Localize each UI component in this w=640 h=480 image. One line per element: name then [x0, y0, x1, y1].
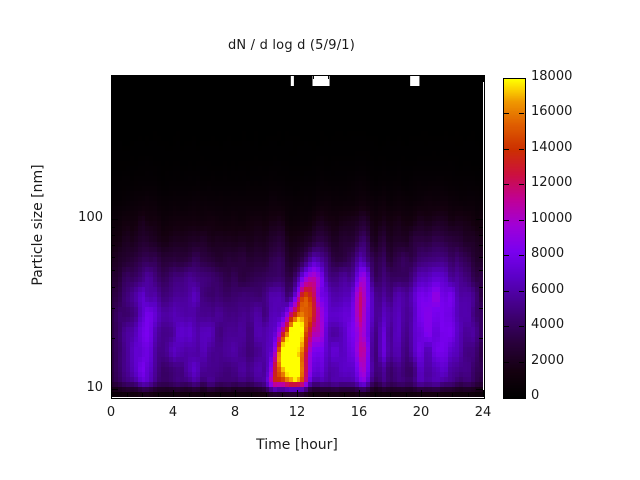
colorbar-tick — [519, 362, 524, 363]
colorbar-tick-label: 18000 — [531, 69, 572, 84]
x-tick-minor — [204, 393, 205, 397]
x-tick-minor-top — [158, 75, 159, 79]
x-tick-minor-top — [452, 75, 453, 79]
x-tick-minor-top — [142, 75, 143, 79]
y-tick-minor — [111, 338, 115, 339]
heatmap-image — [111, 75, 483, 397]
x-tick-major — [111, 390, 112, 397]
x-tick-major-top — [421, 75, 422, 82]
colorbar-tick — [504, 184, 509, 185]
y-tick-minor — [111, 235, 115, 236]
y-tick-minor — [111, 245, 115, 246]
colorbar-tick-label: 12000 — [531, 175, 572, 190]
x-tick-minor — [282, 393, 283, 397]
y-tick-minor — [111, 138, 115, 139]
colorbar-tick — [519, 113, 524, 114]
colorbar-tick — [504, 255, 509, 256]
y-tick-minor-right — [479, 86, 483, 87]
x-tick-major-top — [483, 75, 484, 82]
x-tick-minor — [266, 393, 267, 397]
y-tick-minor-right — [479, 227, 483, 228]
x-tick-minor-top — [328, 75, 329, 79]
y-tick-minor-right — [479, 138, 483, 139]
x-tick-label: 8 — [215, 405, 255, 420]
x-axis-title: Time [hour] — [111, 437, 483, 453]
colorbar-tick-label: 8000 — [531, 246, 564, 261]
y-tick-minor-right — [479, 168, 483, 169]
colorbar-tick — [504, 291, 509, 292]
x-tick-minor-top — [204, 75, 205, 79]
x-tick-label: 4 — [153, 405, 193, 420]
y-axis-title: Particle size [nm] — [30, 125, 46, 325]
colorbar-tick — [519, 220, 524, 221]
y-tick-minor-right — [479, 287, 483, 288]
y-tick-major-right — [476, 389, 483, 390]
x-tick-label: 24 — [463, 405, 503, 420]
y-tick-minor-right — [479, 245, 483, 246]
y-tick-minor-right — [479, 308, 483, 309]
x-tick-minor — [251, 393, 252, 397]
x-tick-minor-top — [468, 75, 469, 79]
y-tick-minor-right — [479, 100, 483, 101]
x-tick-major-top — [359, 75, 360, 82]
colorbar-tick — [519, 184, 524, 185]
colorbar-tick — [519, 255, 524, 256]
y-tick-label: 100 — [59, 210, 103, 225]
x-tick-major — [483, 390, 484, 397]
y-tick-minor-right — [479, 75, 483, 76]
figure-canvas: dN / d log d (5/9/1) 0481216202410100 Ti… — [0, 0, 640, 480]
x-tick-major — [359, 390, 360, 397]
y-tick-minor — [111, 270, 115, 271]
x-tick-minor — [127, 393, 128, 397]
x-tick-minor — [220, 393, 221, 397]
x-tick-minor — [142, 393, 143, 397]
heatmap-plot-area[interactable] — [111, 75, 483, 397]
x-tick-minor — [158, 393, 159, 397]
colorbar-tick — [504, 220, 509, 221]
x-tick-minor-top — [375, 75, 376, 79]
x-tick-minor-top — [406, 75, 407, 79]
colorbar-tick-label: 16000 — [531, 104, 572, 119]
colorbar-tick-label: 0 — [531, 388, 539, 403]
colorbar-tick-label: 10000 — [531, 211, 572, 226]
y-tick-minor — [111, 86, 115, 87]
x-tick-label: 20 — [401, 405, 441, 420]
y-tick-minor — [111, 257, 115, 258]
x-tick-minor-top — [390, 75, 391, 79]
x-tick-minor-top — [313, 75, 314, 79]
y-tick-minor — [111, 227, 115, 228]
x-tick-minor — [390, 393, 391, 397]
x-tick-minor — [437, 393, 438, 397]
x-tick-major-top — [235, 75, 236, 82]
x-tick-minor — [406, 393, 407, 397]
colorbar-tick — [504, 113, 509, 114]
x-tick-major-top — [297, 75, 298, 82]
y-tick-minor — [111, 116, 115, 117]
x-tick-label: 0 — [91, 405, 131, 420]
colorbar-tick-label: 2000 — [531, 353, 564, 368]
y-tick-major — [111, 219, 118, 220]
colorbar-tick — [504, 149, 509, 150]
x-tick-major — [173, 390, 174, 397]
y-tick-minor — [111, 75, 115, 76]
colorbar-tick-label: 14000 — [531, 140, 572, 155]
y-tick-minor-right — [479, 257, 483, 258]
colorbar-tick — [504, 362, 509, 363]
x-tick-minor-top — [282, 75, 283, 79]
x-tick-minor-top — [220, 75, 221, 79]
x-tick-major-top — [111, 75, 112, 82]
x-tick-minor — [189, 393, 190, 397]
x-tick-major-top — [173, 75, 174, 82]
x-tick-major — [235, 390, 236, 397]
chart-title: dN / d log d (5/9/1) — [0, 38, 583, 53]
y-tick-minor-right — [479, 116, 483, 117]
x-tick-major — [297, 390, 298, 397]
y-tick-major — [111, 389, 118, 390]
x-tick-minor-top — [251, 75, 252, 79]
x-tick-minor — [328, 393, 329, 397]
x-tick-major — [421, 390, 422, 397]
colorbar-tick-label: 4000 — [531, 317, 564, 332]
colorbar-tick — [519, 326, 524, 327]
y-tick-minor — [111, 100, 115, 101]
x-tick-label: 16 — [339, 405, 379, 420]
colorbar[interactable] — [503, 78, 526, 399]
x-tick-minor-top — [344, 75, 345, 79]
x-tick-minor — [468, 393, 469, 397]
colorbar-tick — [519, 291, 524, 292]
colorbar-tick-label: 6000 — [531, 282, 564, 297]
x-tick-minor — [313, 393, 314, 397]
y-tick-minor-right — [479, 338, 483, 339]
y-tick-minor-right — [479, 270, 483, 271]
x-tick-label: 12 — [277, 405, 317, 420]
x-tick-minor — [344, 393, 345, 397]
x-tick-minor-top — [437, 75, 438, 79]
y-tick-minor-right — [479, 235, 483, 236]
y-tick-minor — [111, 287, 115, 288]
y-tick-minor — [111, 168, 115, 169]
x-tick-minor-top — [266, 75, 267, 79]
colorbar-tick — [519, 149, 524, 150]
colorbar-gradient — [504, 79, 525, 398]
x-tick-minor-top — [127, 75, 128, 79]
colorbar-tick — [504, 326, 509, 327]
x-tick-minor-top — [189, 75, 190, 79]
y-tick-label: 10 — [59, 380, 103, 395]
y-tick-minor — [111, 308, 115, 309]
x-tick-minor — [375, 393, 376, 397]
x-tick-minor — [452, 393, 453, 397]
y-tick-major-right — [476, 219, 483, 220]
